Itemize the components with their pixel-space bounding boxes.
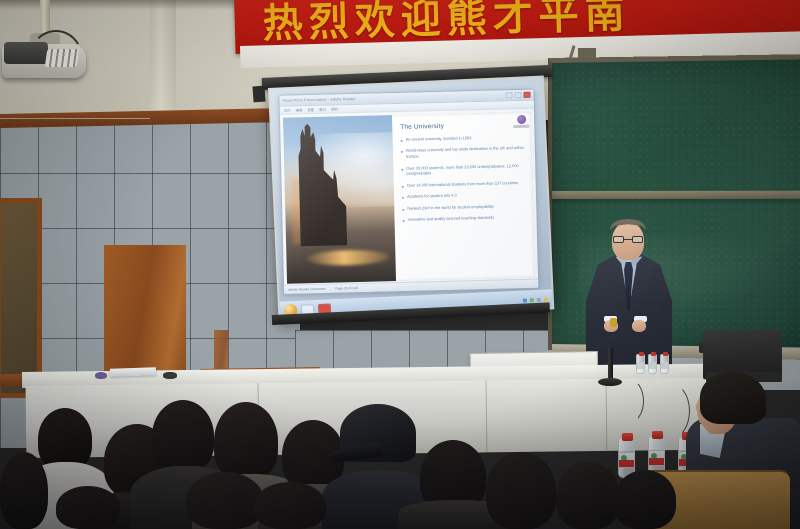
slide-canvas: The University An ancient university, fo… xyxy=(283,112,535,284)
street-light-trail xyxy=(306,250,389,267)
bottle-label-red-band xyxy=(619,460,634,467)
menu-item-edit[interactable]: 编辑 xyxy=(296,107,303,112)
slide-text-column: The University An ancient university, fo… xyxy=(392,112,535,281)
window-title: PowerPoint Presentation - Adobe Reader xyxy=(283,97,356,103)
statusbar-left-text: Adobe Reader Document xyxy=(288,287,325,292)
projection-screen: PowerPoint Presentation - Adobe Reader 文… xyxy=(268,75,554,321)
bottle-label xyxy=(649,450,664,466)
window-controls[interactable] xyxy=(505,92,530,99)
glasses-lens-left xyxy=(613,236,624,243)
slide-bullet: Over 14,000 international students from … xyxy=(402,180,526,189)
audience-head xyxy=(186,472,264,529)
doorway-left-open[interactable] xyxy=(0,198,42,398)
windows-desktop: PowerPoint Presentation - Adobe Reader 文… xyxy=(270,78,552,320)
projector-lens-housing xyxy=(4,42,48,64)
seated-guest-hair xyxy=(700,372,766,424)
bottle-cap-icon xyxy=(663,352,668,356)
audience-head xyxy=(556,462,620,529)
audience-head xyxy=(254,482,326,529)
audience-head xyxy=(152,400,214,472)
system-tray[interactable] xyxy=(523,297,548,302)
computer-mouse[interactable] xyxy=(95,372,107,379)
clock xyxy=(544,297,548,301)
menu-item-help[interactable]: 帮助 xyxy=(331,106,338,111)
slide-bullet: World-class university and top study des… xyxy=(401,145,525,160)
battery-icon[interactable] xyxy=(537,297,541,301)
maximize-icon[interactable] xyxy=(514,92,521,98)
projector-vents xyxy=(45,49,80,67)
menu-item-window[interactable]: 窗口 xyxy=(319,107,326,112)
menu-item-file[interactable]: 文件 xyxy=(284,108,291,113)
presenter-hand-right xyxy=(632,320,646,332)
bottle-cap-icon xyxy=(651,352,656,356)
wall-speaker xyxy=(252,86,265,103)
wall-column xyxy=(150,0,176,120)
glasses-bridge xyxy=(624,239,632,240)
audience-head xyxy=(214,402,278,480)
slide-bullet: Innovative and quality assured teaching … xyxy=(403,214,527,223)
bottle-cap-icon xyxy=(622,433,633,441)
minimize-icon[interactable] xyxy=(505,92,512,98)
volume-icon[interactable] xyxy=(530,298,534,302)
presentation-clicker[interactable] xyxy=(610,318,617,327)
slide-title: The University xyxy=(400,121,524,131)
documents-on-desk xyxy=(110,367,156,377)
bottle-cap-icon xyxy=(652,431,663,439)
eyeglasses-icon xyxy=(613,236,643,244)
lecture-hall-photo: 热烈欢迎熊才平南 PowerPoint Presentation - Adobe… xyxy=(0,0,800,529)
water-bottle-small xyxy=(648,354,657,374)
bottle-label xyxy=(619,452,634,468)
university-crest-logo xyxy=(517,115,526,124)
slide-bullet: An ancient university, founded in 1583 xyxy=(401,134,525,143)
chalkboard xyxy=(548,54,800,354)
chalkboard-rail xyxy=(552,191,800,199)
audience-head xyxy=(614,470,676,529)
glasses-lens-right xyxy=(632,236,643,243)
presentation-window[interactable]: PowerPoint Presentation - Adobe Reader 文… xyxy=(278,89,539,295)
desk-panel-seam xyxy=(486,380,488,452)
slide-bullet: Over 35,000 students, more than 23,000 u… xyxy=(401,162,525,177)
floor-cable xyxy=(612,378,644,424)
desk-water-bottles xyxy=(636,354,669,374)
bottle-label-red-band xyxy=(649,458,664,465)
water-bottle-small xyxy=(660,354,669,374)
statusbar-right-text: Page 15 of 240 xyxy=(335,286,357,291)
desk-object-dark xyxy=(163,372,177,379)
audience-head xyxy=(486,452,556,529)
bottle-cap-icon xyxy=(639,352,644,356)
menu-item-view[interactable]: 视图 xyxy=(307,107,314,112)
microphone-stand xyxy=(608,348,613,382)
audience-head xyxy=(0,452,48,529)
desk-panel-seam xyxy=(606,379,608,451)
audience-head xyxy=(56,486,120,529)
audience-head xyxy=(38,408,92,470)
slide-bullet: Academy for student arts 4.0 xyxy=(402,191,526,200)
water-bottle-small xyxy=(636,354,645,374)
close-icon[interactable] xyxy=(523,92,530,98)
logo-wordmark xyxy=(513,125,529,128)
slide-bullet: Ranked 23rd in the world for student emp… xyxy=(402,202,526,211)
network-icon[interactable] xyxy=(523,298,527,302)
slide-photo-cathedral xyxy=(283,115,396,284)
